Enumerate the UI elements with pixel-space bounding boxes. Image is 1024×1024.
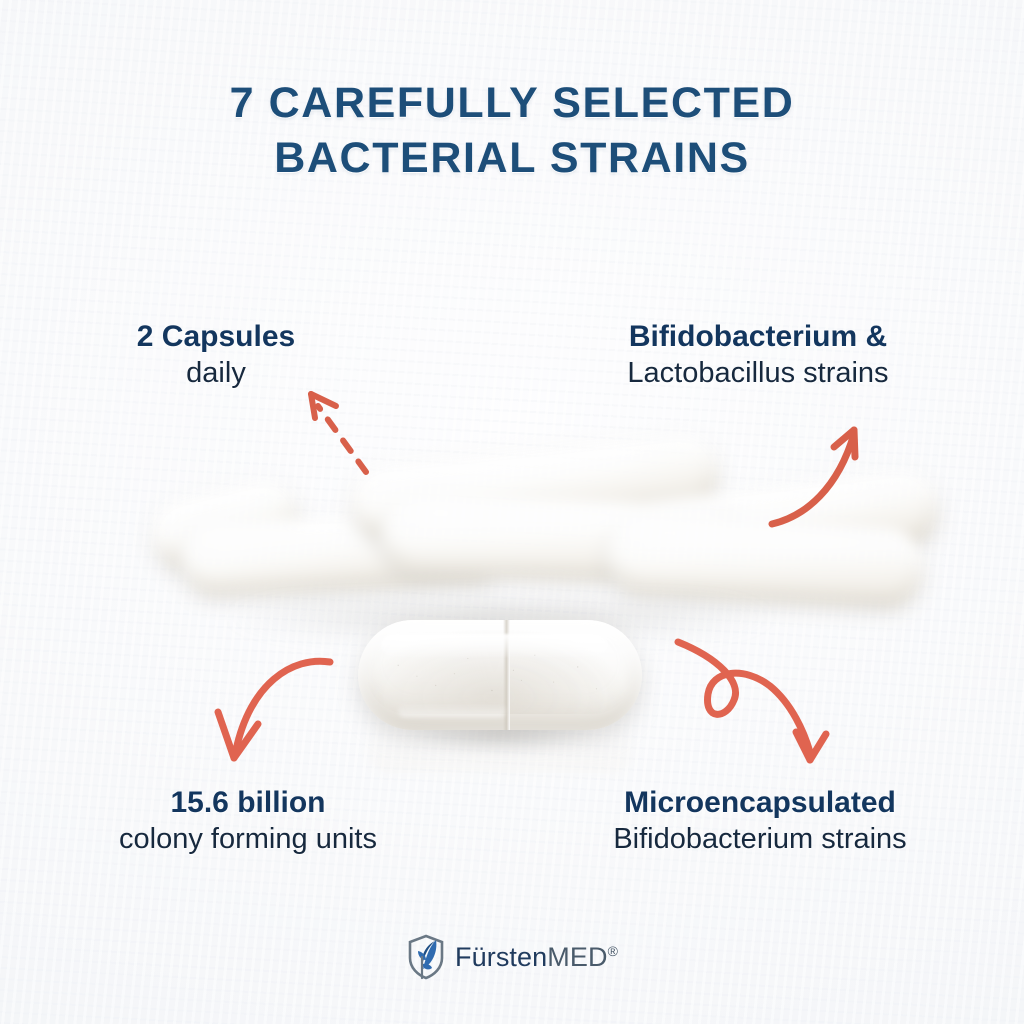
headline-line-1: 7 CAREFULLY SELECTED <box>0 76 1024 131</box>
callout-cfu-subtitle: colony forming units <box>38 821 458 858</box>
capsule-shape <box>178 507 511 598</box>
infographic-canvas: 7 CAREFULLY SELECTED BACTERIAL STRAINS <box>0 0 1024 1024</box>
capsule-shadow <box>372 722 630 752</box>
white-capsule-icon <box>358 620 642 730</box>
callout-micro-subtitle: Bifidobacterium strains <box>540 821 980 858</box>
callout-capsules: 2 Capsules daily <box>46 318 386 392</box>
page-title: 7 CAREFULLY SELECTED BACTERIAL STRAINS <box>0 76 1024 185</box>
callout-cfu: 15.6 billion colony forming units <box>38 784 458 858</box>
registered-mark: ® <box>608 944 618 958</box>
brand-name-part1: Fürsten <box>455 942 547 973</box>
capsule-highlight <box>381 634 608 657</box>
callout-capsules-subtitle: daily <box>46 355 386 392</box>
capsule-highlight-lower <box>398 703 506 717</box>
capsule-shape <box>144 473 307 579</box>
capsule-powder-fill <box>366 630 634 714</box>
capsule-shape <box>379 495 741 584</box>
callout-strains: Bifidobacterium & Lactobacillus strains <box>548 318 968 392</box>
curved-arrow-up-right-icon <box>762 412 892 542</box>
callout-microencapsulated: Microencapsulated Bifidobacterium strain… <box>540 784 980 858</box>
callout-strains-subtitle: Lactobacillus strains <box>548 355 968 392</box>
callout-cfu-title: 15.6 billion <box>38 784 458 821</box>
shield-leaf-logo-icon <box>406 934 446 980</box>
callout-micro-title: Microencapsulated <box>540 784 980 821</box>
callout-capsules-title: 2 Capsules <box>46 318 386 355</box>
brand-logo: Fürsten MED ® <box>0 934 1024 980</box>
brand-name-part2: MED <box>547 942 607 973</box>
curved-arrow-down-left-icon <box>196 636 346 771</box>
brand-wordmark: Fürsten MED ® <box>455 942 618 973</box>
headline-line-2: BACTERIAL STRAINS <box>0 131 1024 186</box>
capsule-shape <box>347 431 723 545</box>
capsule-seam <box>503 620 510 730</box>
callout-strains-title: Bifidobacterium & <box>548 318 968 355</box>
capsule-reflection <box>366 726 634 772</box>
looped-arrow-down-right-icon <box>660 628 840 770</box>
